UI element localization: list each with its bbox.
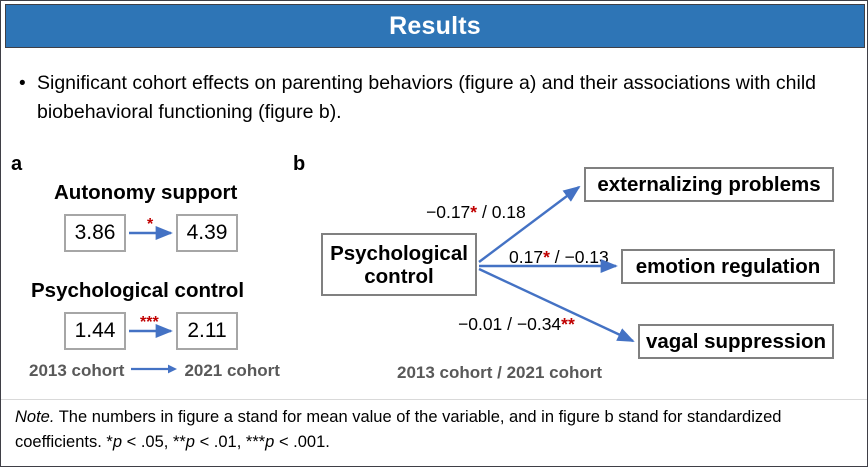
coef-2021-vagal: −0.34: [517, 314, 561, 334]
figure-b-node-vagal-suppression: vagal suppression: [638, 324, 834, 359]
figure-a-value-box-control-2021: 2.11: [176, 312, 238, 350]
figure-a-value-box-autonomy-2013: 3.86: [64, 214, 126, 252]
figure-b-path-label-externalizing: −0.17* / 0.18: [426, 204, 526, 222]
figure-a-value-box-control-2013: 1.44: [64, 312, 126, 350]
figure-b-node-externalizing-problems: externalizing problems: [584, 167, 834, 202]
note-sig-val-2: < .01,: [195, 433, 246, 451]
note-prefix: Note.: [15, 408, 54, 426]
note-sig-p-2: p: [186, 433, 195, 451]
figure-b-path-label-emotion-regulation: 0.17* / −0.13: [509, 249, 609, 267]
figure-a-heading-psychological-control: Psychological control: [31, 279, 244, 303]
bullet-item: • Significant cohort effects on parentin…: [15, 69, 855, 127]
figure-a-significance-autonomy: *: [147, 217, 153, 233]
figure-a-legend-right-label: 2021 cohort: [184, 361, 279, 381]
arrow-right-icon: [130, 361, 178, 381]
figure-b-node-psychological-control: Psychological control: [321, 233, 477, 296]
predictor-line-1: Psychological: [330, 242, 468, 265]
page-title: Results: [389, 14, 481, 39]
note-text: Note. The numbers in figure a stand for …: [15, 405, 859, 455]
slide-title-bar: Results: [5, 4, 865, 48]
figure-a-panel-label: a: [11, 153, 22, 176]
coef-2013-emotion: 0.17: [509, 247, 543, 267]
figure-b-node-psychological-control-label: Psychological control: [330, 242, 468, 288]
sig-2013-emotion: *: [543, 247, 550, 267]
note-sig-p-3: p: [265, 433, 274, 451]
figure-b-path-label-vagal-suppression: −0.01 / −0.34**: [458, 316, 575, 334]
figure-a-heading-autonomy: Autonomy support: [54, 181, 237, 205]
slide-canvas: Results • Significant cohort effects on …: [0, 0, 868, 467]
path-sep-emotion: /: [550, 247, 565, 267]
note-divider: [1, 399, 868, 400]
note-sig-marker-3: ***: [246, 433, 265, 451]
bullet-list: • Significant cohort effects on parentin…: [15, 69, 855, 127]
coef-2013-vagal: −0.01: [458, 314, 502, 334]
bullet-text: Significant cohort effects on parenting …: [37, 69, 855, 127]
figure-b-legend: 2013 cohort / 2021 cohort: [397, 363, 602, 383]
note-sig-val-3: < .001.: [274, 433, 330, 451]
sig-2021-vagal: **: [561, 314, 575, 334]
coef-2013-externalizing: −0.17: [426, 202, 470, 222]
predictor-line-2: control: [364, 265, 433, 288]
bullet-marker-icon: •: [15, 69, 37, 98]
note-sig-p-1: p: [113, 433, 122, 451]
coef-2021-emotion: −0.13: [564, 247, 608, 267]
note-sig-marker-2: **: [173, 433, 186, 451]
figure-b-node-emotion-regulation: emotion regulation: [621, 249, 835, 284]
figure-a-value-box-autonomy-2021: 4.39: [176, 214, 238, 252]
path-sep-vagal: /: [502, 314, 517, 334]
figure-a-significance-control: ***: [140, 315, 159, 331]
note-sig-val-1: < .05,: [122, 433, 173, 451]
path-sep-externalizing: /: [477, 202, 492, 222]
figure-a-legend-left-label: 2013 cohort: [29, 361, 124, 381]
figure-a-legend: 2013 cohort 2021 cohort: [29, 361, 280, 381]
figure-b-panel-label: b: [293, 153, 305, 176]
coef-2021-externalizing: 0.18: [492, 202, 526, 222]
